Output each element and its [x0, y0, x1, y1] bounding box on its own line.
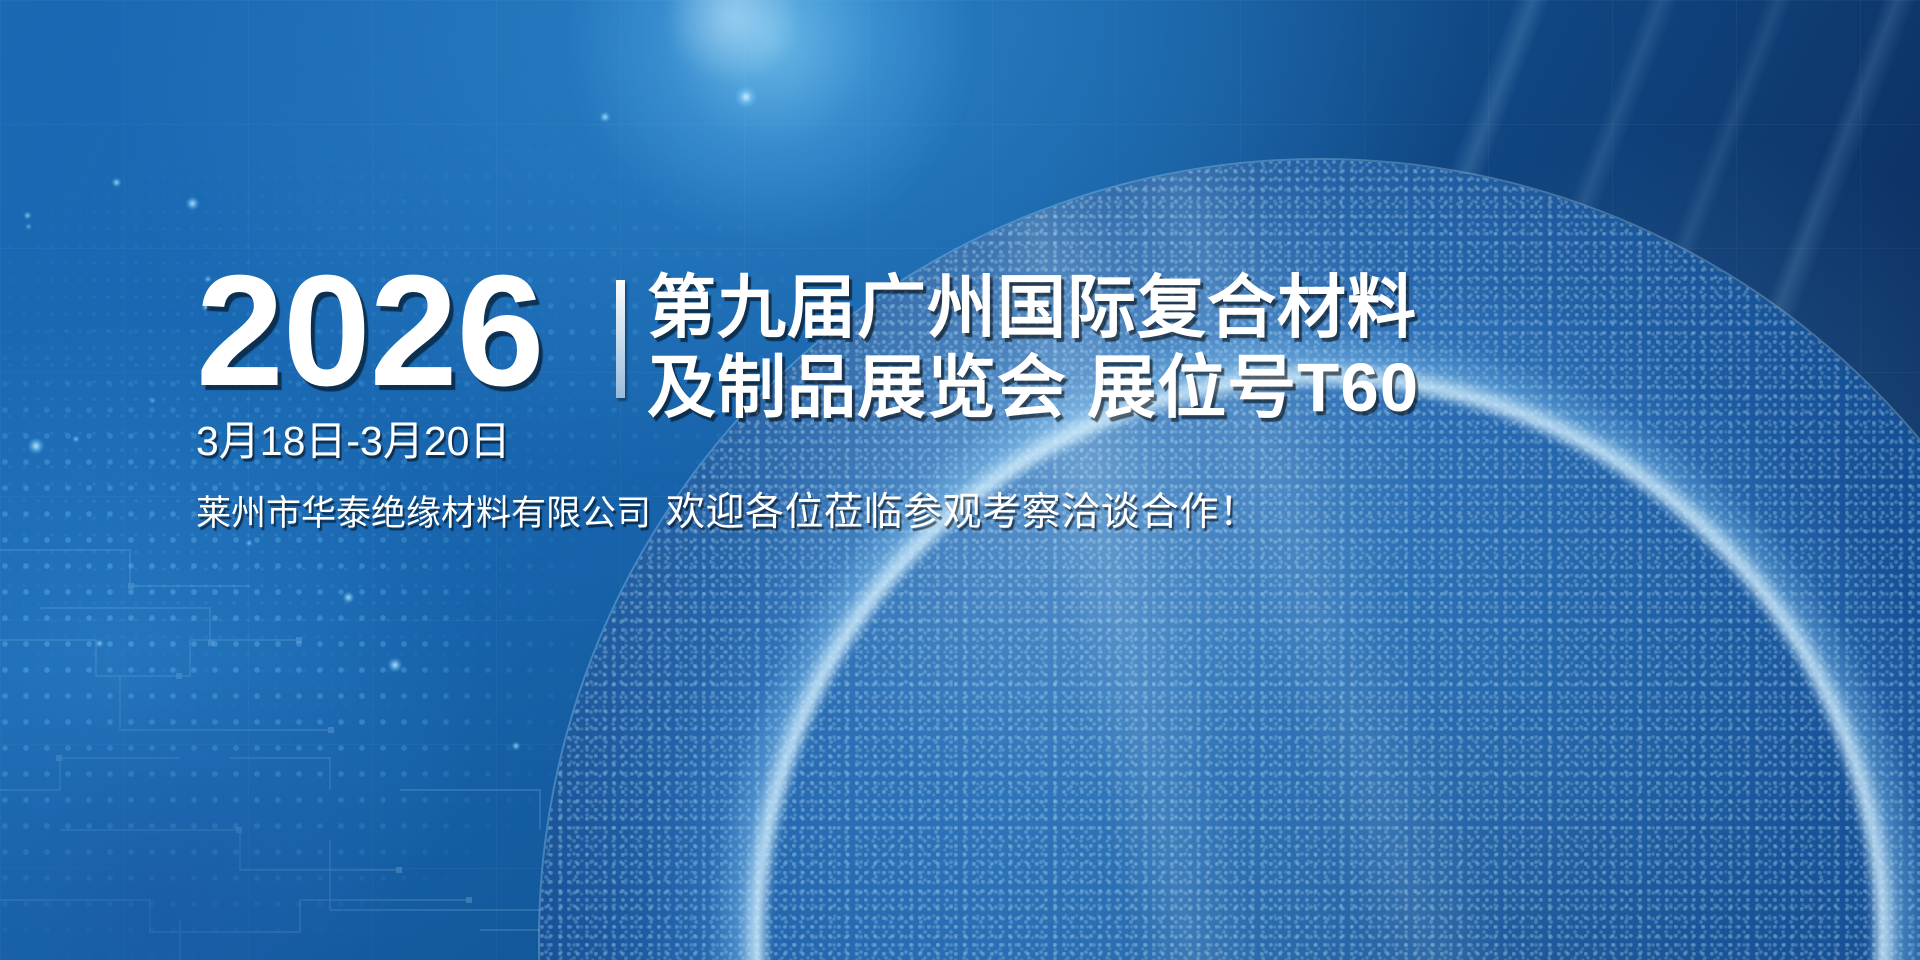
date-range: 3月18日-3月20日 — [196, 419, 614, 464]
exhibition-banner: 2026 3月18日-3月20日 第九届广州国际复合材料 及制品展览会 展位号T… — [0, 0, 1920, 960]
banner-content: 2026 3月18日-3月20日 第九届广州国际复合材料 及制品展览会 展位号T… — [196, 258, 1756, 537]
bokeh-spark — [24, 212, 31, 219]
bokeh-spark — [73, 436, 79, 442]
bokeh-spark — [26, 224, 31, 229]
bokeh-spark — [600, 112, 610, 122]
bokeh-spark — [28, 438, 44, 454]
banner-top-row: 2026 3月18日-3月20日 第九届广州国际复合材料 及制品展览会 展位号T… — [196, 258, 1756, 464]
title-column: 第九届广州国际复合材料 及制品展览会 展位号T60 — [647, 258, 1756, 428]
bokeh-spark — [112, 178, 121, 187]
vertical-divider-bar — [616, 280, 625, 398]
bokeh-spark — [512, 742, 520, 750]
bokeh-spark — [343, 592, 354, 603]
circuit-lines-decoration — [0, 490, 780, 960]
year-heading: 2026 — [196, 258, 614, 405]
banner-bottom-row: 莱州市华泰绝缘材料有限公司 欢迎各位莅临参观考察洽谈合作！ — [196, 490, 1756, 537]
welcome-message: 欢迎各位莅临参观考察洽谈合作！ — [666, 490, 1259, 537]
bokeh-spark — [388, 658, 402, 672]
bokeh-spark — [246, 540, 252, 546]
exhibition-title-line-2: 及制品展览会 展位号T60 — [647, 348, 1756, 428]
bokeh-spark — [735, 86, 757, 108]
date-column: 2026 3月18日-3月20日 — [196, 258, 614, 464]
exhibition-title-line-1: 第九届广州国际复合材料 — [647, 268, 1756, 348]
bokeh-spark — [186, 197, 199, 210]
bokeh-spark — [96, 640, 103, 647]
bokeh-spark — [150, 398, 155, 403]
company-name: 莱州市华泰绝缘材料有限公司 — [196, 493, 614, 535]
